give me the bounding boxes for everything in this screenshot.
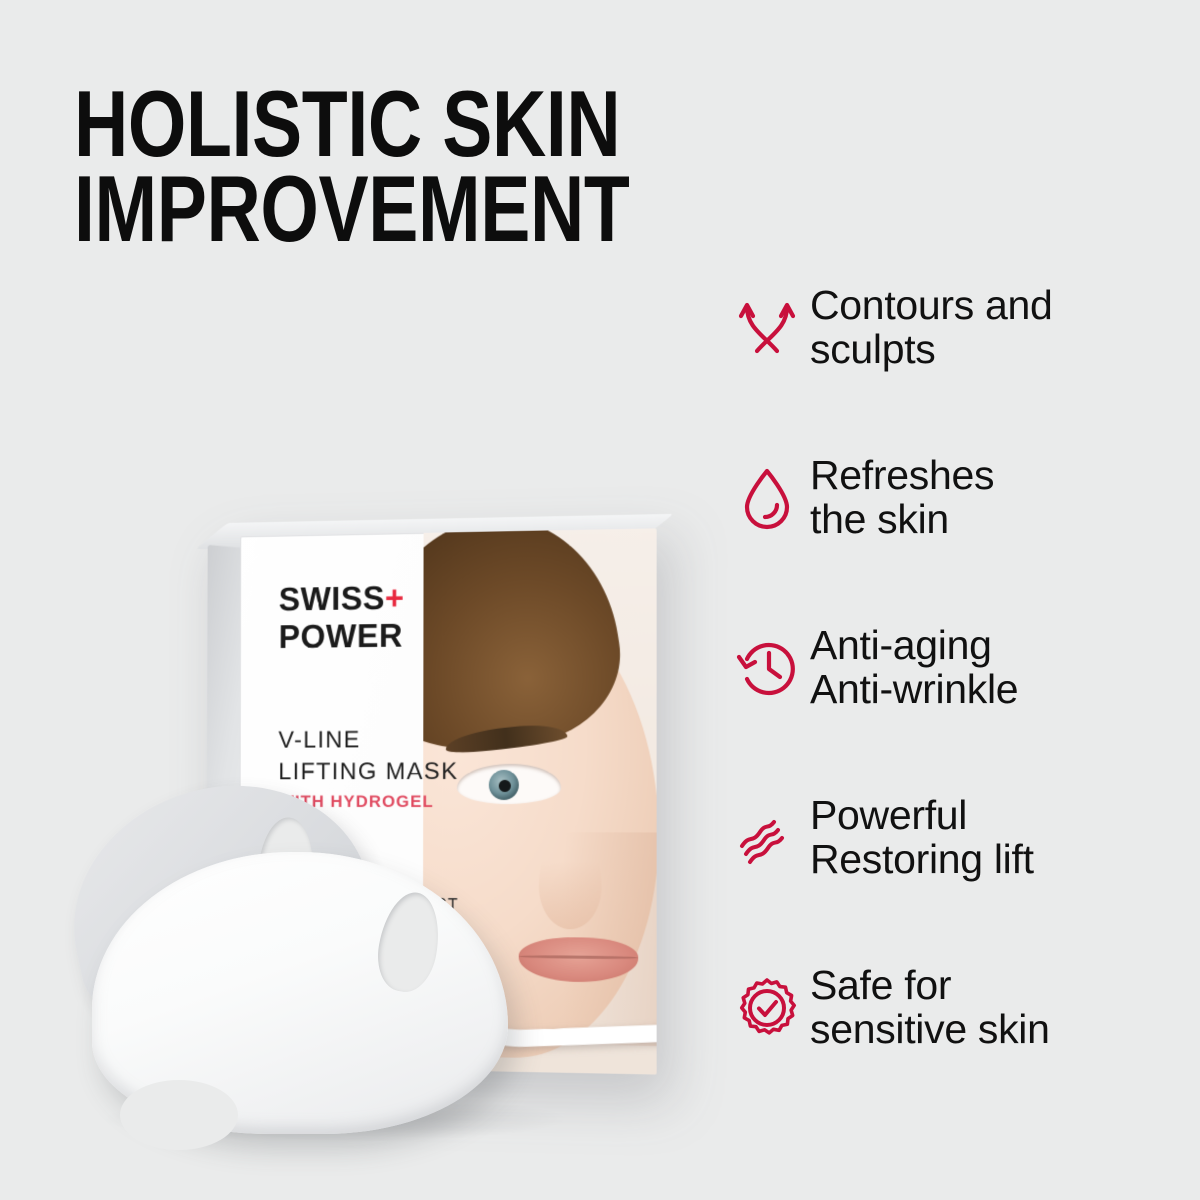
feature-label-anti-aging: Anti-aging Anti-wrinkle: [810, 616, 1018, 712]
feature-anti-aging-line-2: Anti-wrinkle: [810, 668, 1018, 712]
page-title: HOLISTIC SKIN IMPROVEMENT: [74, 84, 774, 250]
feature-contours-line-1: Contours and: [810, 284, 1053, 328]
clock-rewind-icon: [724, 616, 810, 716]
brand-lockup: SWISS+ POWER: [279, 579, 405, 656]
feature-refreshes-line-1: Refreshes: [810, 454, 994, 498]
feature-restoring-lift-line-2: Restoring lift: [810, 838, 1034, 882]
water-drop-icon: [724, 446, 810, 546]
brand-name-line-1: SWISS+: [279, 579, 405, 619]
feature-contours-line-2: sculpts: [810, 328, 1053, 372]
feature-item-contours: Contours and sculpts: [724, 276, 1154, 446]
product-name-line-2: LIFTING MASK: [278, 756, 458, 788]
feature-list: Contours and sculpts Refreshes the skin: [724, 276, 1154, 1126]
brand-plus-icon: +: [385, 579, 405, 616]
product-scene: SWISS+ POWER V-LINE LIFTING MASK WITH HY…: [40, 500, 760, 1160]
brand-swiss-text: SWISS: [279, 579, 385, 617]
feature-safe-line-2: sensitive skin: [810, 1008, 1050, 1052]
product-name-block: V-LINE LIFTING MASK WITH HYDROGEL: [278, 724, 458, 812]
headline-line-2: IMPROVEMENT: [74, 169, 634, 250]
feature-item-restoring-lift: Powerful Restoring lift: [724, 786, 1154, 956]
crossed-up-arrows-icon: [724, 276, 810, 376]
feature-item-safe: Safe for sensitive skin: [724, 956, 1154, 1126]
feature-label-safe: Safe for sensitive skin: [810, 956, 1050, 1052]
feature-restoring-lift-line-1: Powerful: [810, 794, 1034, 838]
feature-anti-aging-line-1: Anti-aging: [810, 624, 1018, 668]
feature-safe-line-1: Safe for: [810, 964, 1050, 1008]
feature-item-anti-aging: Anti-aging Anti-wrinkle: [724, 616, 1154, 786]
feature-label-contours: Contours and sculpts: [810, 276, 1053, 372]
feature-label-restoring-lift: Powerful Restoring lift: [810, 786, 1034, 882]
feature-item-refreshes: Refreshes the skin: [724, 446, 1154, 616]
mask-chin-notch: [120, 1080, 238, 1150]
product-name-line-1: V-LINE: [278, 724, 458, 756]
brand-name-line-2: POWER: [279, 617, 405, 656]
headline-line-1: HOLISTIC SKIN: [74, 84, 634, 165]
poster-canvas: HOLISTIC SKIN IMPROVEMENT: [0, 0, 1200, 1200]
verified-badge-check-icon: [724, 956, 810, 1056]
feature-refreshes-line-2: the skin: [810, 498, 994, 542]
feature-label-refreshes: Refreshes the skin: [810, 446, 994, 542]
wavy-lines-icon: [724, 786, 810, 886]
